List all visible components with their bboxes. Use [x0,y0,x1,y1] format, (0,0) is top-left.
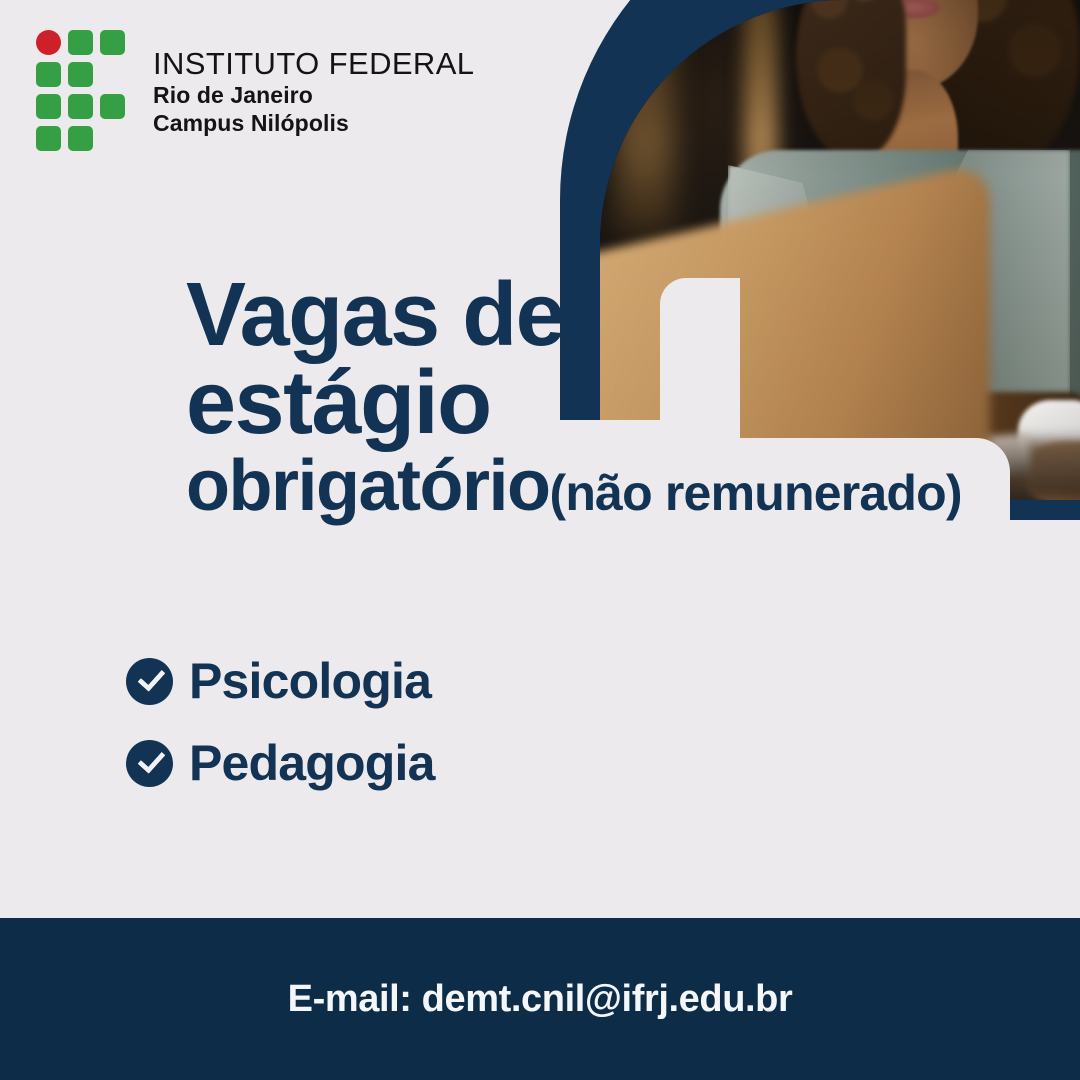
ifrj-logo-text: INSTITUTO FEDERAL Rio de Janeiro Campus … [153,46,474,135]
course-label: Pedagogia [189,734,435,792]
logo-subtitle-1: Rio de Janeiro [153,84,474,107]
logo-cell-blank [100,126,125,151]
logo-cell-green [100,94,125,119]
logo-cell-green [36,62,61,87]
headline-line-3: obrigatório(não remunerado) [186,453,962,520]
poster-canvas: INSTITUTO FEDERAL Rio de Janeiro Campus … [0,0,1080,1080]
headline-line-3-main: obrigatório [186,446,549,526]
logo-title: INSTITUTO FEDERAL [153,48,474,79]
headline-line-2: estágio [186,362,962,446]
page-title: Vagas de estágio obrigatório(não remuner… [186,274,962,520]
logo-cell-green [100,30,125,55]
footer-bar: E-mail: demt.cnil@ifrj.edu.br [0,918,1080,1080]
logo-cell-blank [100,62,125,87]
contact-email: E-mail: demt.cnil@ifrj.edu.br [288,978,793,1021]
logo-cell-green [36,94,61,119]
check-circle-icon [126,658,173,705]
ifrj-logo: INSTITUTO FEDERAL Rio de Janeiro Campus … [36,30,474,151]
logo-cell-green [68,94,93,119]
headline-line-3-note: (não remunerado) [549,465,961,521]
logo-cell-green [68,126,93,151]
ifrj-logo-grid-icon [36,30,131,151]
course-label: Psicologia [189,652,431,710]
logo-cell-green [36,126,61,151]
logo-cell-green [68,30,93,55]
logo-cell-green [68,62,93,87]
course-list: Psicologia Pedagogia [126,652,435,816]
list-item: Pedagogia [126,734,435,792]
logo-subtitle-2: Campus Nilópolis [153,112,474,135]
list-item: Psicologia [126,652,435,710]
logo-cell-red [36,30,61,55]
check-circle-icon [126,740,173,787]
headline-line-1: Vagas de [186,274,962,358]
